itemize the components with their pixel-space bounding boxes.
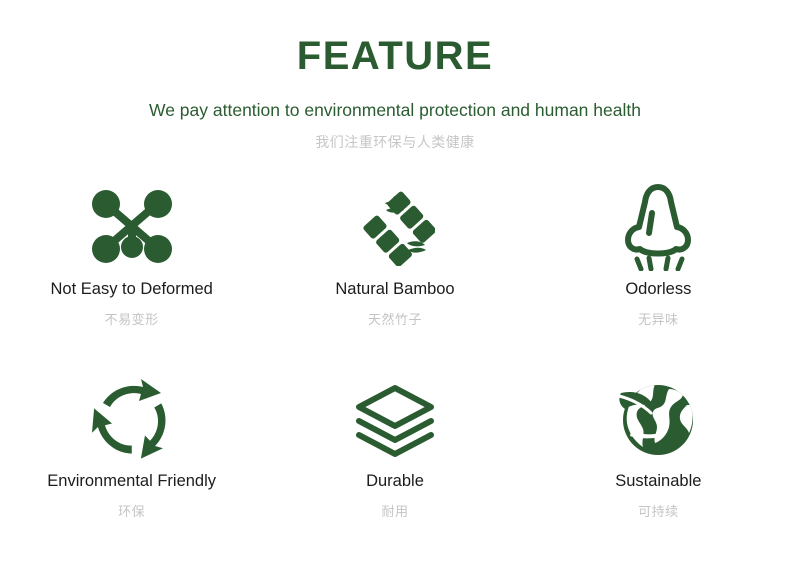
subtitle-english: We pay attention to environmental protec… [0, 100, 790, 121]
globe-leaf-icon [617, 370, 699, 470]
feature-label-en: Not Easy to Deformed [51, 280, 213, 298]
feature-section: FEATURE We pay attention to environmenta… [0, 0, 790, 576]
feature-label-cn: 无异味 [638, 309, 679, 328]
subtitle-chinese: 我们注重环保与人类健康 [0, 132, 790, 152]
feature-label-en: Durable [366, 472, 424, 490]
feature-label-en: Odorless [625, 280, 691, 298]
nose-icon [620, 174, 696, 278]
feature-label-en: Sustainable [615, 472, 701, 490]
feature-grid: Not Easy to Deformed 不易变形 [0, 174, 790, 566]
feature-label-cn: 环保 [118, 501, 145, 520]
recycle-icon [89, 370, 175, 470]
feature-label-cn: 可持续 [638, 501, 679, 520]
feature-label-cn: 天然竹子 [368, 309, 422, 328]
header: FEATURE We pay attention to environmenta… [0, 0, 790, 152]
feature-item: Not Easy to Deformed 不易变形 [0, 174, 263, 370]
feature-label-cn: 不易变形 [105, 309, 159, 328]
feature-item: Durable 耐用 [263, 370, 526, 566]
feature-item: Natural Bamboo 天然竹子 [263, 174, 526, 370]
page-title: FEATURE [0, 36, 790, 76]
feature-item: Sustainable 可持续 [527, 370, 790, 566]
molecule-icon [89, 174, 175, 278]
feature-item: Odorless 无异味 [527, 174, 790, 370]
feature-label-cn: 耐用 [381, 501, 408, 520]
layers-icon [353, 370, 437, 470]
bamboo-icon [355, 174, 435, 278]
feature-item: Environmental Friendly 环保 [0, 370, 263, 566]
feature-label-en: Environmental Friendly [47, 472, 216, 490]
feature-label-en: Natural Bamboo [335, 280, 454, 298]
